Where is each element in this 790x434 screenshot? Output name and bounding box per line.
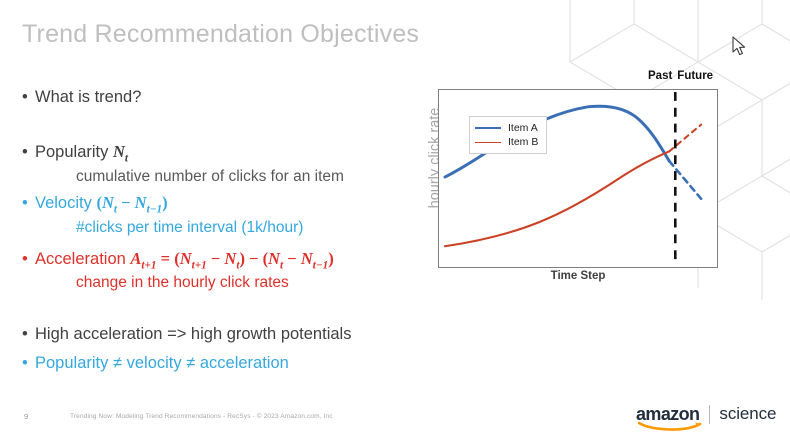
subtext-velocity: #clicks per time interval (1k/hour)	[76, 219, 303, 237]
bullet-popularity-neq: •Popularity ≠ velocity ≠ acceleration	[22, 354, 289, 373]
math-minus-1: −	[211, 249, 220, 268]
bullet-high-acceleration: •High acceleration => high growth potent…	[22, 325, 351, 344]
legend-label-item-a: Item A	[508, 122, 538, 134]
legend-label-item-b: Item B	[508, 136, 538, 148]
chart-plot-frame: Item A Item B	[438, 89, 718, 268]
math-symbol-Nt1: Nt−1	[135, 193, 162, 212]
bullet-label-acceleration: Acceleration	[35, 250, 126, 268]
bullet-marker: •	[22, 143, 35, 162]
math-minus-2: −	[287, 249, 296, 268]
series-line-item-b	[445, 151, 669, 246]
bullet-marker: •	[22, 250, 35, 269]
logo-divider	[709, 405, 710, 424]
bullet-velocity: •Velocity (Nt − Nt−1)	[22, 193, 168, 217]
math-symbol-Nt-1b: Nt−1	[301, 249, 328, 268]
math-paren-close: )	[162, 193, 168, 212]
trend-chart: hourly click rate PastFuture	[416, 70, 726, 295]
science-wordmark: science	[719, 405, 776, 423]
math-symbol-N: Nt	[113, 142, 128, 161]
legend-item-b: Item B	[475, 135, 538, 149]
math-equals: =	[161, 249, 170, 268]
bullet-marker: •	[22, 325, 35, 344]
amazon-smile-icon	[638, 420, 704, 431]
legend-item-a: Item A	[475, 121, 538, 135]
annotation-future: Future	[677, 70, 713, 82]
bullet-marker: •	[22, 354, 35, 373]
page-number: 9	[24, 412, 28, 421]
math-symbol-Nt: Nt	[102, 193, 117, 212]
page-title: Trend Recommendation Objectives	[22, 20, 419, 49]
math-symbol-Nt-b: Nt	[268, 249, 283, 268]
bullet-popularity: •Popularity Nt	[22, 142, 128, 166]
mouse-cursor	[731, 36, 747, 58]
subtext-popularity: cumulative number of clicks for an item	[76, 168, 344, 186]
bullet-label-popularity: Popularity	[35, 143, 108, 161]
chart-legend: Item A Item B	[469, 116, 547, 154]
bullet-acceleration: •Acceleration At+1 = (Nt+1 − Nt) − (Nt −…	[22, 249, 334, 273]
math-minus: −	[121, 193, 130, 212]
bullet-what-is-trend: •What is trend?	[22, 88, 141, 107]
math-symbol-A: At+1	[130, 249, 156, 268]
annotation-past: Past	[648, 70, 672, 82]
legend-swatch-item-b	[475, 142, 501, 143]
amazon-wordmark: amazon	[636, 405, 699, 423]
bullet-marker: •	[22, 194, 35, 213]
bullet-label-velocity: Velocity	[35, 194, 92, 212]
math-symbol-Nt1p: Nt+1	[180, 249, 207, 268]
bullet-text: What is trend?	[35, 88, 141, 106]
amazon-science-logo: amazon science	[636, 405, 776, 431]
bullet-text: Popularity ≠ velocity ≠ acceleration	[35, 354, 289, 372]
math-paren-close-2: )	[328, 249, 334, 268]
slide-canvas: Trend Recommendation Objectives •What is…	[0, 0, 790, 434]
bullet-marker: •	[22, 88, 35, 107]
math-symbol-Nt-a: Nt	[224, 249, 239, 268]
legend-swatch-item-a	[475, 127, 501, 129]
chart-past-future-annotation: PastFuture	[648, 70, 713, 82]
footer-citation: Trending Now: Modeling Trend Recommendat…	[70, 413, 333, 420]
subtext-acceleration: change in the hourly click rates	[76, 274, 289, 292]
chart-x-axis-label: Time Step	[438, 270, 718, 282]
bullet-text: High acceleration => high growth potenti…	[35, 325, 351, 343]
